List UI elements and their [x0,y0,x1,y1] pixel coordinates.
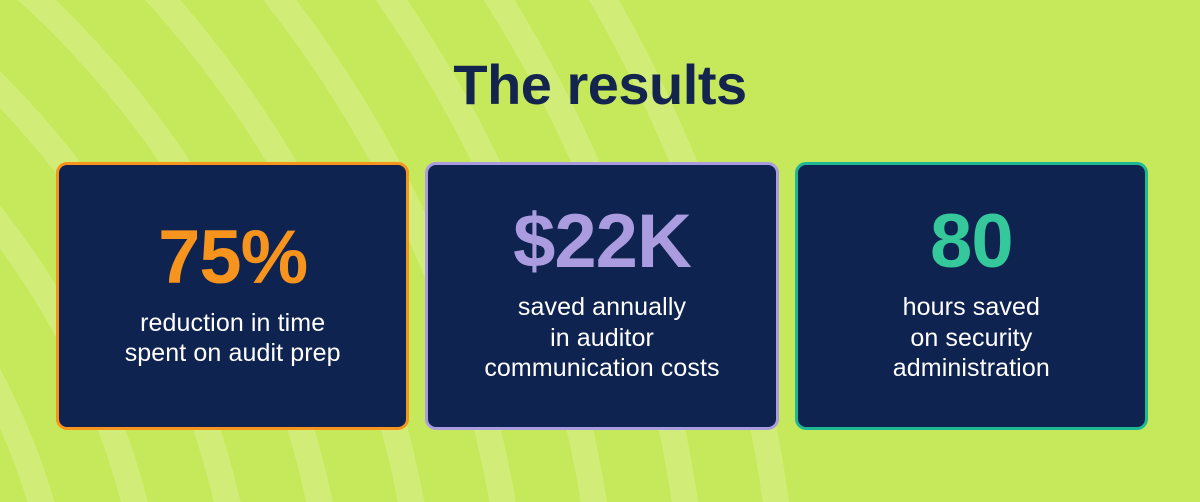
stat-value: 75% [158,220,307,296]
stat-card-security-administration-hours-saved: 80 hours saved on security administratio… [795,162,1148,430]
stat-cards-row: 75% reduction in time spent on audit pre… [56,162,1148,430]
stat-label: reduction in time spent on audit prep [125,308,341,369]
results-infographic: The results 75% reduction in time spent … [0,0,1200,502]
page-title: The results [0,56,1200,115]
stat-value: 80 [930,204,1013,280]
stat-card-reduction-in-audit-prep-time: 75% reduction in time spent on audit pre… [56,162,409,430]
stat-label: saved annually in auditor communication … [484,292,719,384]
stat-value: $22K [513,204,691,280]
stat-label: hours saved on security administration [893,292,1050,384]
stat-card-auditor-communication-savings: $22K saved annually in auditor communica… [425,162,778,430]
